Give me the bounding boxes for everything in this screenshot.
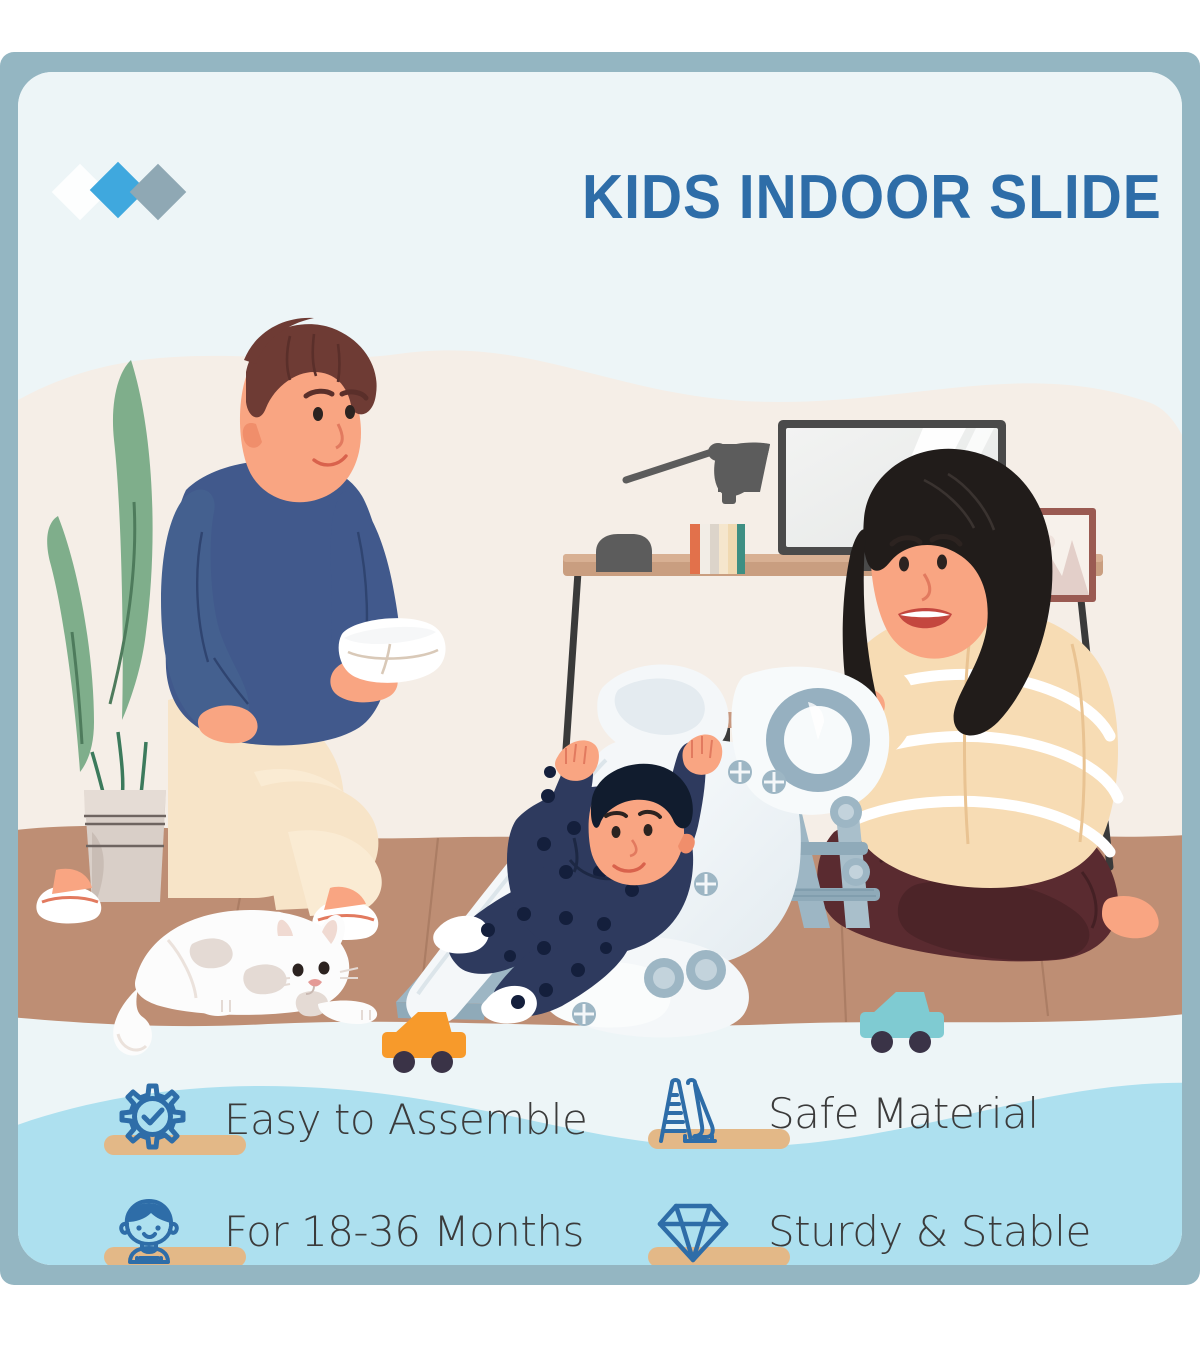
feature-item-sturdy-stable: Sturdy & Stable [654,1192,1091,1265]
feature-icon-wrap [654,1074,732,1152]
diamond-gem-icon [654,1192,732,1265]
feature-label: Sturdy & Stable [768,1207,1091,1256]
content-panel: KIDS INDOOR SLIDE Easy to Assemble [18,72,1182,1265]
slide-ladder-icon [654,1074,732,1152]
feature-item-safe-material: Safe Material [654,1074,1039,1152]
feature-icon-wrap [110,1192,188,1265]
feature-label: For 18-36 Months [224,1207,584,1256]
gear-check-icon [110,1080,188,1158]
feature-icon-wrap [110,1080,188,1158]
feature-item-easy-to-assemble: Easy to Assemble [110,1080,587,1158]
toddler-face-icon [110,1192,188,1265]
feature-label: Safe Material [768,1089,1039,1138]
feature-icon-wrap [654,1192,732,1265]
product-banner: KIDS INDOOR SLIDE Easy to Assemble [0,0,1200,1372]
feature-list: Easy to Assemble [18,1044,1182,1265]
feature-label: Easy to Assemble [224,1095,587,1144]
page-title: KIDS INDOOR SLIDE [111,162,1182,233]
feature-item-age-range: For 18-36 Months [110,1192,584,1265]
